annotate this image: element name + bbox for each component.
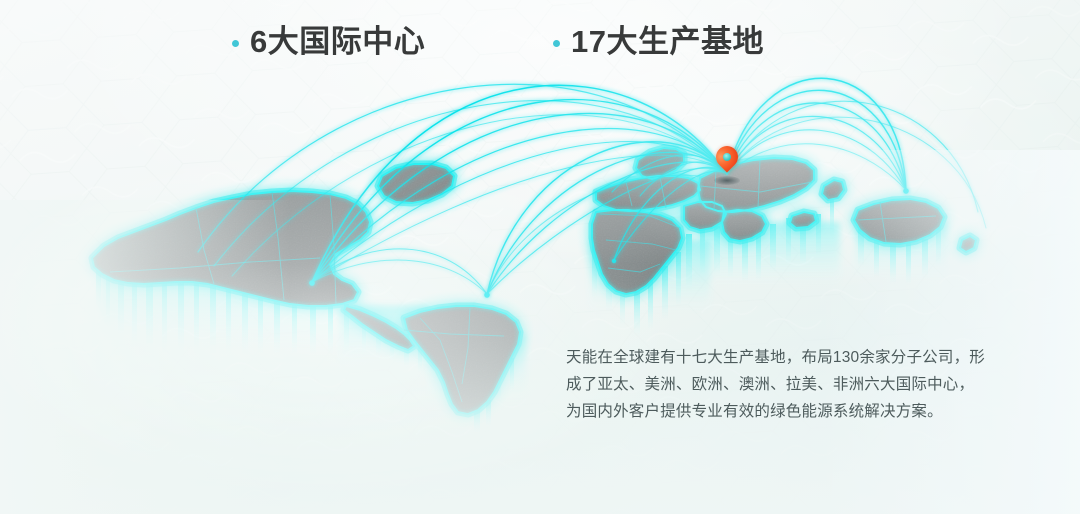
connection-arcs (198, 78, 986, 294)
body-description: 天能在全球建有十七大生产基地，布局130余家分子公司，形成了亚太、美洲、欧洲、澳… (566, 344, 986, 425)
bullet-dot-icon (232, 40, 239, 47)
bullet-dot-icon (553, 40, 560, 47)
map-nodes (309, 188, 909, 298)
map-pin-core-icon (723, 153, 731, 161)
world-map (0, 0, 1080, 514)
background-texture (0, 0, 1080, 514)
map-pin-shadow (714, 176, 740, 185)
map-haze-left (0, 200, 290, 514)
global-footprint-slide: 6大国际中心 17大生产基地 天能在全球建有十七大生产基地，布局130余家分子公… (0, 0, 1080, 514)
heading-label: 17大生产基地 (571, 26, 764, 57)
map-haze-right (820, 150, 1080, 514)
heading-production-bases: 17大生产基地 (553, 26, 764, 57)
heading-label: 6大国际中心 (250, 26, 425, 57)
body-paragraph: 天能在全球建有十七大生产基地，布局130余家分子公司，形成了亚太、美洲、欧洲、澳… (566, 344, 986, 425)
map-pin-marker[interactable] (713, 146, 741, 186)
background-sheen (0, 0, 1080, 514)
heading-international-centers: 6大国际中心 (232, 26, 425, 57)
